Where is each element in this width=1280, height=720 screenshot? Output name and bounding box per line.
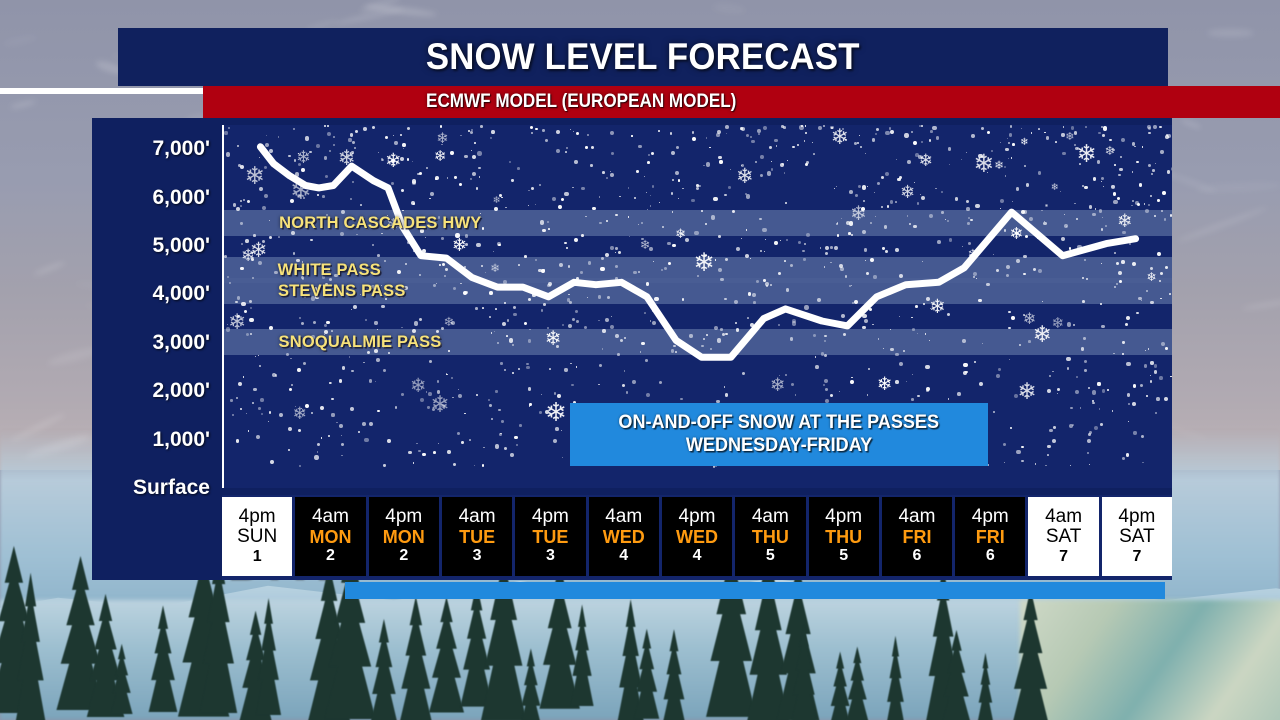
- date-daynumber: 3: [473, 547, 482, 565]
- date-daynumber: 2: [399, 547, 408, 565]
- y-axis-tick: 3,000': [152, 331, 210, 355]
- date-column-5[interactable]: 4amWED4: [589, 497, 659, 576]
- title-bar: SNOW LEVEL FORECAST: [118, 28, 1168, 86]
- date-axis: 4pmSUN14amMON24pmMON24amTUE34pmTUE34amWE…: [222, 495, 1172, 580]
- date-daynumber: 6: [913, 547, 922, 565]
- date-daynumber: 4: [693, 547, 702, 565]
- date-weekday: TUE: [532, 528, 568, 547]
- date-weekday: SUN: [237, 527, 277, 548]
- date-daynumber: 5: [766, 547, 775, 565]
- date-weekday: FRI: [902, 528, 931, 547]
- date-column-6[interactable]: 4pmWED4: [662, 497, 732, 576]
- date-daynumber: 3: [546, 547, 555, 565]
- y-axis-tick: 6,000': [152, 186, 210, 210]
- date-column-3[interactable]: 4amTUE3: [442, 497, 512, 576]
- y-axis-tick: 4,000': [152, 282, 210, 306]
- date-weekday: WED: [676, 528, 718, 547]
- date-time: 4am: [898, 507, 935, 528]
- date-time: 4am: [312, 507, 349, 528]
- date-weekday: MON: [309, 528, 351, 547]
- page-title: SNOW LEVEL FORECAST: [426, 36, 860, 78]
- date-weekday: SAT: [1046, 527, 1082, 548]
- subtitle-bar: ECMWF MODEL (EUROPEAN MODEL): [203, 86, 1280, 118]
- date-daynumber: 7: [1059, 548, 1068, 566]
- date-daynumber: 1: [253, 548, 262, 566]
- date-column-10[interactable]: 4pmFRI6: [955, 497, 1025, 576]
- callout-line-1: ON-AND-OFF SNOW AT THE PASSES: [619, 412, 940, 434]
- y-axis: 7,000'6,000'5,000'4,000'3,000'2,000'1,00…: [92, 118, 222, 580]
- bottom-accent-bar: [345, 582, 1165, 599]
- date-time: 4am: [752, 507, 789, 528]
- date-weekday: MON: [383, 528, 425, 547]
- model-subtitle: ECMWF MODEL (EUROPEAN MODEL): [426, 91, 736, 113]
- y-axis-tick: 7,000': [152, 137, 210, 161]
- date-time: 4pm: [825, 507, 862, 528]
- y-axis-tick: 1,000': [152, 428, 210, 452]
- date-column-8[interactable]: 4pmTHU5: [809, 497, 879, 576]
- y-axis-tick: Surface: [133, 476, 210, 500]
- date-column-0[interactable]: 4pmSUN1: [222, 497, 292, 576]
- date-daynumber: 6: [986, 547, 995, 565]
- date-column-4[interactable]: 4pmTUE3: [515, 497, 585, 576]
- date-weekday: FRI: [976, 528, 1005, 547]
- date-time: 4pm: [532, 507, 569, 528]
- date-weekday: WED: [603, 528, 645, 547]
- y-axis-tick: 2,000': [152, 379, 210, 403]
- date-column-2[interactable]: 4pmMON2: [369, 497, 439, 576]
- date-column-1[interactable]: 4amMON2: [295, 497, 365, 576]
- date-daynumber: 4: [619, 547, 628, 565]
- date-weekday: THU: [825, 528, 862, 547]
- date-daynumber: 2: [326, 547, 335, 565]
- date-daynumber: 5: [839, 547, 848, 565]
- date-time: 4pm: [385, 507, 422, 528]
- chart-panel: 7,000'6,000'5,000'4,000'3,000'2,000'1,00…: [92, 118, 1172, 580]
- date-time: 4pm: [239, 507, 276, 528]
- callout-line-2: WEDNESDAY-FRIDAY: [686, 435, 872, 457]
- date-daynumber: 7: [1132, 548, 1141, 566]
- forecast-callout: ON-AND-OFF SNOW AT THE PASSES WEDNESDAY-…: [570, 403, 988, 466]
- y-axis-tick: 5,000': [152, 234, 210, 258]
- date-column-11[interactable]: 4amSAT7: [1028, 497, 1098, 576]
- date-weekday: SAT: [1119, 527, 1155, 548]
- date-column-7[interactable]: 4amTHU5: [735, 497, 805, 576]
- date-time: 4am: [459, 507, 496, 528]
- date-column-9[interactable]: 4amFRI6: [882, 497, 952, 576]
- date-weekday: TUE: [459, 528, 495, 547]
- date-time: 4am: [605, 507, 642, 528]
- date-column-12[interactable]: 4pmSAT7: [1102, 497, 1172, 576]
- snow-level-forecast-graphic: SNOW LEVEL FORECAST ECMWF MODEL (EUROPEA…: [0, 0, 1280, 720]
- date-time: 4am: [1045, 507, 1082, 528]
- date-weekday: THU: [752, 528, 789, 547]
- date-time: 4pm: [679, 507, 716, 528]
- date-time: 4pm: [972, 507, 1009, 528]
- date-time: 4pm: [1118, 507, 1155, 528]
